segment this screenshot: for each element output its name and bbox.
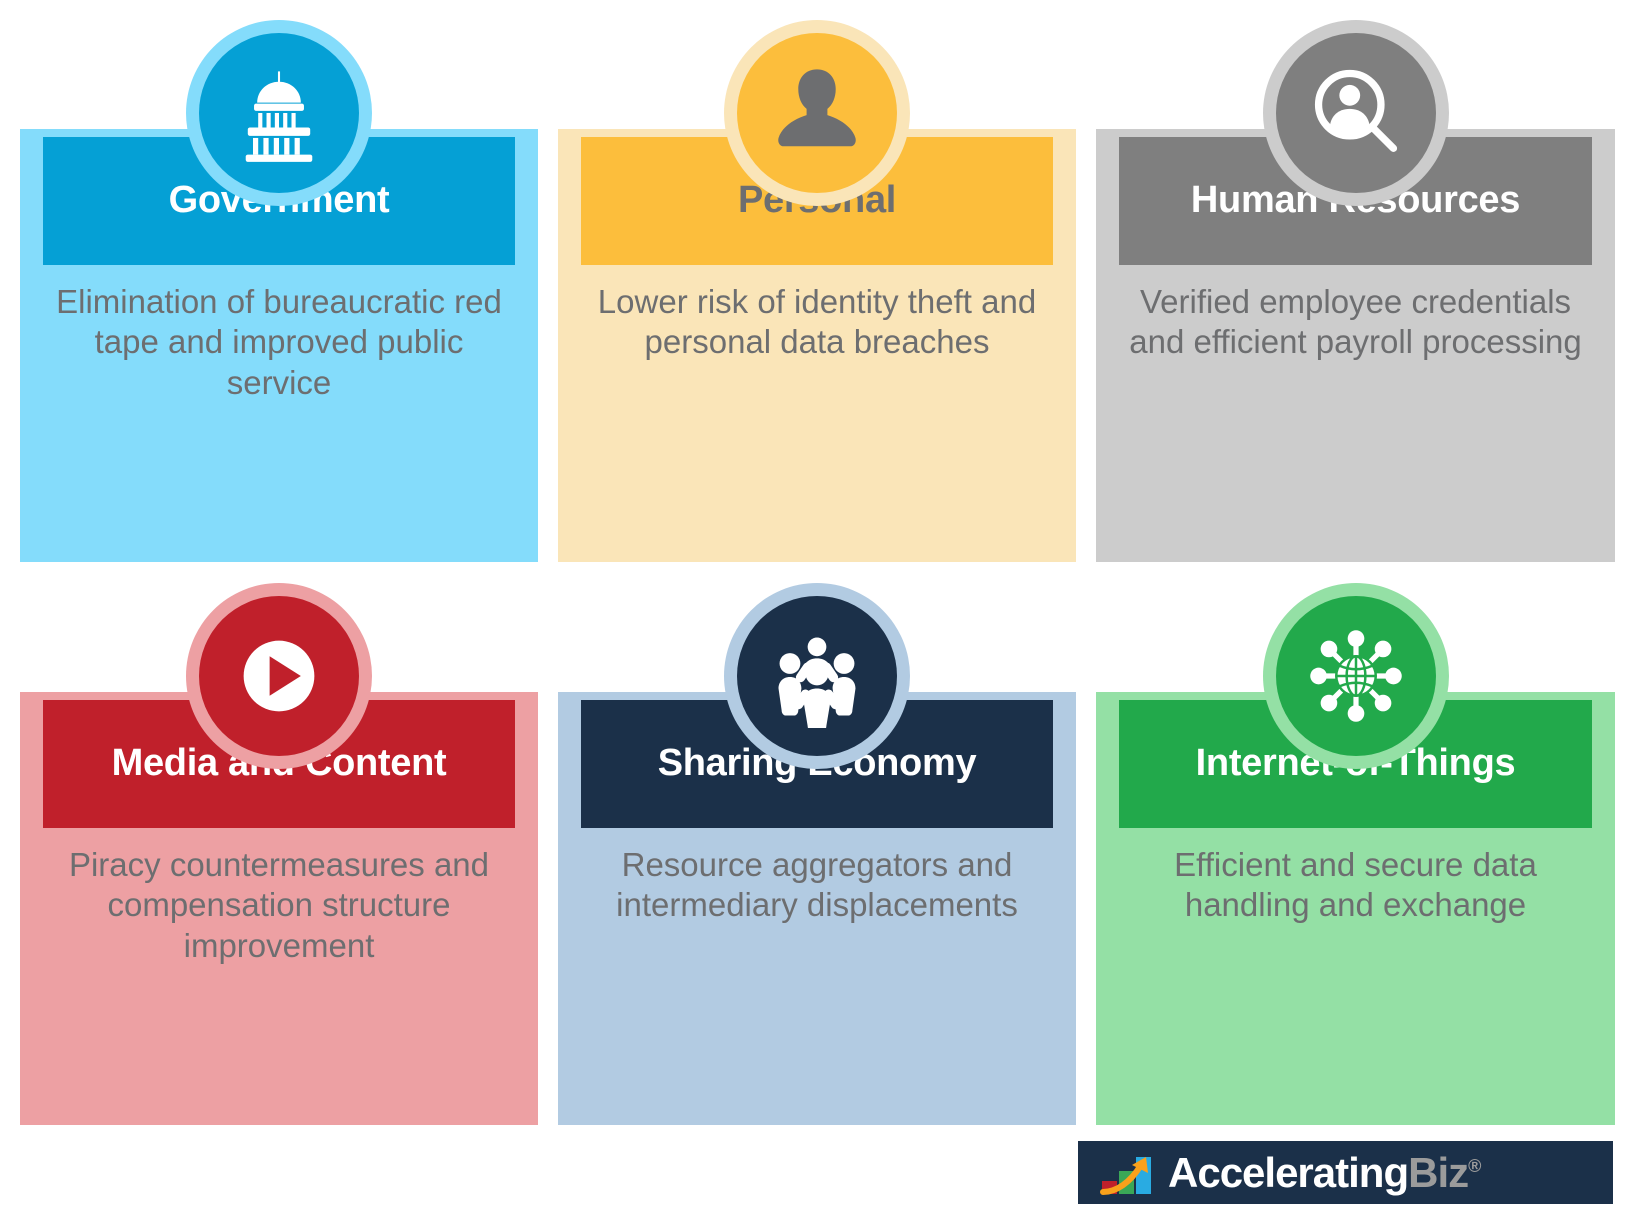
person-silhouette-icon xyxy=(765,61,869,165)
card-personal[interactable]: Personal Lower risk of identity theft an… xyxy=(558,20,1076,562)
logo-text-secondary: Biz xyxy=(1408,1149,1468,1196)
card-description: Resource aggregators and intermediary di… xyxy=(582,845,1052,926)
icon-ring xyxy=(724,20,910,206)
iot-network-globe-icon xyxy=(1304,624,1408,728)
logo-wordmark: AcceleratingBiz® xyxy=(1168,1149,1480,1197)
infographic-board: Government Elimination of bureaucratic r… xyxy=(0,0,1630,1220)
card-description: Lower risk of identity theft and persona… xyxy=(582,282,1052,363)
card-description: Elimination of bureaucratic red tape and… xyxy=(44,282,514,403)
icon-ring xyxy=(186,20,372,206)
icon-disc xyxy=(737,33,897,193)
card-internet-of-things[interactable]: Internet-of-Things Efficient and secure … xyxy=(1096,583,1615,1125)
card-description: Piracy countermeasures and compensation … xyxy=(44,845,514,966)
person-search-icon xyxy=(1304,61,1408,165)
people-group-icon xyxy=(765,624,869,728)
brand-logo[interactable]: AcceleratingBiz® xyxy=(1078,1141,1613,1204)
card-description: Efficient and secure data handling and e… xyxy=(1120,845,1591,926)
card-human-resources[interactable]: Human Resources Verified employee creden… xyxy=(1096,20,1615,562)
icon-ring xyxy=(1263,20,1449,206)
icon-disc xyxy=(737,596,897,756)
icon-disc xyxy=(1276,33,1436,193)
card-government[interactable]: Government Elimination of bureaucratic r… xyxy=(20,20,538,562)
icon-ring xyxy=(1263,583,1449,769)
play-button-icon xyxy=(227,624,331,728)
icon-disc xyxy=(199,596,359,756)
logo-text-primary: Accelerating xyxy=(1168,1149,1408,1196)
registered-trademark-icon: ® xyxy=(1468,1156,1480,1176)
icon-ring xyxy=(186,583,372,769)
card-description: Verified employee credentials and effici… xyxy=(1120,282,1591,363)
icon-disc xyxy=(1276,596,1436,756)
bar-chart-arrow-icon xyxy=(1100,1151,1154,1195)
benefit-cards-grid: Government Elimination of bureaucratic r… xyxy=(20,20,1613,1125)
card-sharing-economy[interactable]: Sharing Economy Resource aggregators and… xyxy=(558,583,1076,1125)
card-media-and-content[interactable]: Media and Content Piracy countermeasures… xyxy=(20,583,538,1125)
icon-disc xyxy=(199,33,359,193)
capitol-building-icon xyxy=(227,61,331,165)
icon-ring xyxy=(724,583,910,769)
